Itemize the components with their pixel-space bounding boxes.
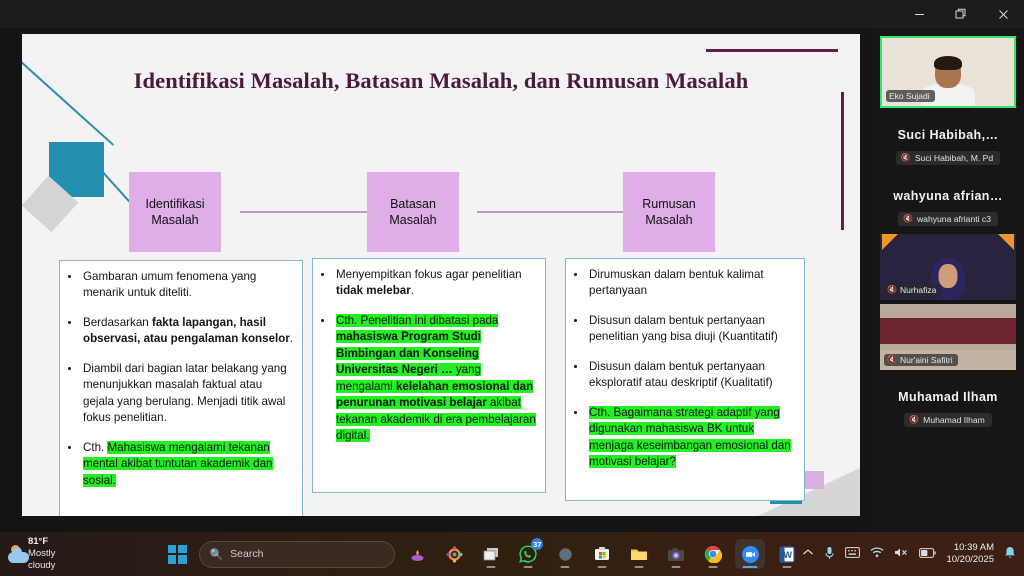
- volume-muted-icon[interactable]: [894, 547, 909, 561]
- step-line-2: Masalah: [389, 213, 436, 227]
- bullet-item: Diambil dari bagian latar belakang yang …: [64, 361, 295, 427]
- muted-microphone-icon: 🔇: [901, 154, 911, 162]
- participant-video-tile[interactable]: 🔇Nurhafiza: [880, 234, 1016, 300]
- shared-screen-stage[interactable]: Identifikasi Masalah, Batasan Masalah, d…: [0, 28, 872, 532]
- step-box-identifikasi: IdentifikasiMasalah: [129, 172, 221, 252]
- diya-lamp-icon[interactable]: [402, 539, 432, 569]
- text-run: Berdasarkan: [83, 316, 152, 329]
- step-line-1: Batasan: [390, 197, 436, 211]
- participant-name-chip: 🔇Nur'aini Safitri: [884, 354, 958, 366]
- decorative-top-rule: [706, 49, 838, 52]
- text-run: Disusun dalam bentuk pertanyaan peneliti…: [589, 314, 778, 343]
- zoom-icon[interactable]: [735, 539, 765, 569]
- bullet-item: Gambaran umum fenomena yang menarik untu…: [64, 269, 295, 302]
- task-view-icon[interactable]: [476, 539, 506, 569]
- weather-temperature: 81°F: [28, 536, 65, 548]
- rumusan-masalah-card: Dirumuskan dalam bentuk kalimat pertanya…: [565, 258, 805, 501]
- participant-name-chip: 🔇Muhamad Ilham: [904, 413, 992, 427]
- google-chrome-icon[interactable]: [698, 539, 728, 569]
- whatsapp-icon[interactable]: 37: [513, 539, 543, 569]
- taskbar-center: 🔍 Search 37: [64, 539, 802, 569]
- participant-display-name: wahyuna afrian…: [880, 189, 1016, 203]
- participant-display-name: Suci Habibah,…: [880, 128, 1016, 142]
- participant-name-label: wahyuna afrianti c3: [917, 214, 991, 224]
- text-run: Disusun dalam bentuk pertanyaan eksplora…: [589, 360, 773, 389]
- identifikasi-masalah-card: Gambaran umum fenomena yang menarik untu…: [59, 260, 303, 516]
- bullet-item: Cth. Mahasiswa mengalami tekanan mental …: [64, 440, 295, 489]
- window-titlebar: [0, 0, 1024, 28]
- batasan-masalah-card: Menyempitkan fokus agar penelitian tidak…: [312, 258, 546, 493]
- text-run: Gambaran umum fenomena yang menarik untu…: [83, 270, 256, 299]
- slide-title: Identifikasi Masalah, Batasan Masalah, d…: [22, 68, 860, 94]
- bullet-item: Cth. Bagaimana strategi adaptif yang dig…: [570, 405, 797, 471]
- clock-date: 10/20/2025: [946, 554, 994, 566]
- wifi-icon[interactable]: [870, 547, 884, 561]
- search-input[interactable]: 🔍 Search: [199, 541, 395, 568]
- step-line-1: Rumusan: [642, 197, 696, 211]
- participant-no-video-tile[interactable]: Muhamad Ilham🔇Muhamad Ilham: [880, 374, 1016, 435]
- bullet-list: Dirumuskan dalam bentuk kalimat pertanya…: [570, 267, 797, 471]
- battery-icon[interactable]: [919, 548, 936, 561]
- weather-widget[interactable]: 81°F Mostly cloudy: [0, 536, 64, 572]
- file-explorer-icon[interactable]: [624, 539, 654, 569]
- microphone-icon[interactable]: [824, 546, 835, 563]
- show-hidden-icons-icon[interactable]: [802, 548, 814, 560]
- participant-name-label: Muhamad Ilham: [923, 415, 985, 425]
- camera-icon[interactable]: [661, 539, 691, 569]
- bullet-list: Menyempitkan fokus agar penelitian tidak…: [317, 267, 538, 445]
- participant-no-video-tile[interactable]: wahyuna afrian…🔇wahyuna afrianti c3: [880, 173, 1016, 234]
- highlighted-text: Cth. Penelitian ini dibatasi pada: [336, 314, 498, 327]
- taskbar: 81°F Mostly cloudy 🔍 Search: [0, 532, 1024, 576]
- minimize-button[interactable]: [898, 0, 940, 28]
- participant-name-chip: 🔇wahyuna afrianti c3: [898, 212, 998, 226]
- participant-name-label: Nurhafiza: [900, 285, 936, 295]
- text-run: Dirumuskan dalam bentuk kalimat pertanya…: [589, 268, 764, 297]
- step-box-batasan: BatasanMasalah: [367, 172, 459, 252]
- notification-bell-icon[interactable]: [1004, 546, 1016, 563]
- highlighted-text: Cth. Bagaimana strategi adaptif yang dig…: [589, 406, 791, 468]
- step-box-rumusan: RumusanMasalah: [623, 172, 715, 252]
- bullet-list: Gambaran umum fenomena yang menarik untu…: [64, 269, 295, 489]
- participant-no-video-tile[interactable]: Suci Habibah,…🔇Suci Habibah, M. Pd: [880, 112, 1016, 173]
- close-button[interactable]: [982, 0, 1024, 28]
- bullet-item: Disusun dalam bentuk pertanyaan peneliti…: [570, 313, 797, 346]
- word-icon[interactable]: W: [772, 539, 802, 569]
- bullet-item: Dirumuskan dalam bentuk kalimat pertanya…: [570, 267, 797, 300]
- participant-video-tile[interactable]: Eko Sujadi: [880, 36, 1016, 108]
- participant-display-name: Muhamad Ilham: [880, 390, 1016, 404]
- presentation-slide: Identifikasi Masalah, Batasan Masalah, d…: [22, 34, 860, 516]
- step-line-2: Masalah: [645, 213, 692, 227]
- muted-microphone-icon: 🔇: [887, 286, 897, 294]
- muted-microphone-icon: 🔇: [903, 215, 913, 223]
- keyboard-icon[interactable]: [845, 547, 860, 561]
- search-placeholder: Search: [230, 548, 263, 560]
- participant-video-tile[interactable]: 🔇Nur'aini Safitri: [880, 304, 1016, 370]
- svg-text:W: W: [784, 550, 793, 560]
- desktop-root: Identifikasi Masalah, Batasan Masalah, d…: [0, 0, 1024, 576]
- muted-microphone-icon: 🔇: [887, 356, 897, 364]
- muted-microphone-icon: 🔇: [909, 416, 919, 424]
- taskbar-clock[interactable]: 10:39 AM 10/20/2025: [946, 542, 994, 566]
- bullet-item: Menyempitkan fokus agar penelitian tidak…: [317, 267, 538, 300]
- highlighted-text: Mahasiswa mengalami tekanan mental akiba…: [83, 441, 273, 487]
- participant-name-chip: 🔇Nurhafiza: [884, 284, 941, 296]
- step-line-2: Masalah: [151, 213, 198, 227]
- settings-icon[interactable]: [550, 539, 580, 569]
- participant-name-chip: 🔇Suci Habibah, M. Pd: [896, 151, 1000, 165]
- bullet-item: Disusun dalam bentuk pertanyaan eksplora…: [570, 359, 797, 392]
- bullet-item: Cth. Penelitian ini dibatasi pada mahasi…: [317, 313, 538, 445]
- bold-text: tidak melebar: [336, 284, 411, 297]
- participant-name-label: Eko Sujadi: [889, 91, 930, 101]
- text-run: .: [411, 284, 414, 297]
- weather-condition: Mostly cloudy: [28, 548, 65, 572]
- participant-rail[interactable]: Eko SujadiSuci Habibah,…🔇Suci Habibah, M…: [872, 28, 1024, 532]
- participant-name-label: Suci Habibah, M. Pd: [915, 153, 993, 163]
- partly-cloudy-icon: [8, 545, 22, 563]
- text-run: Cth.: [83, 441, 107, 454]
- windows-logo-icon: [168, 545, 187, 564]
- participant-name-chip: Eko Sujadi: [886, 90, 935, 102]
- process-chain: IdentifikasiMasalah BatasanMasalah Rumus…: [22, 172, 860, 252]
- whatsapp-badge: 37: [531, 538, 543, 550]
- text-run: .: [290, 332, 293, 345]
- text-run: Diambil dari bagian latar belakang yang …: [83, 362, 287, 424]
- text-run: Menyempitkan fokus agar penelitian: [336, 268, 522, 281]
- step-line-1: Identifikasi: [145, 197, 204, 211]
- bullet-item: Berdasarkan fakta lapangan, hasil observ…: [64, 315, 295, 348]
- participant-name-label: Nur'aini Safitri: [900, 355, 953, 365]
- clock-time: 10:39 AM: [946, 542, 994, 554]
- start-button[interactable]: [162, 539, 192, 569]
- copilot-icon[interactable]: [439, 539, 469, 569]
- restore-button[interactable]: [940, 0, 982, 28]
- system-tray: 10:39 AM 10/20/2025: [802, 542, 1024, 566]
- microsoft-store-icon[interactable]: [587, 539, 617, 569]
- search-icon: 🔍: [209, 548, 223, 561]
